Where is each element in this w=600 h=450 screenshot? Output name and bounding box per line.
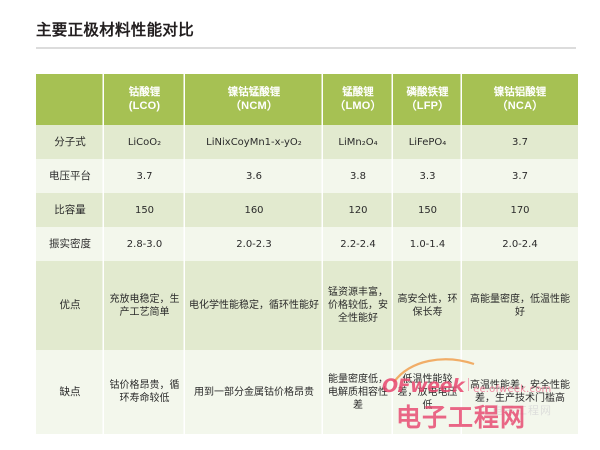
row-label-voltage: 电压平台 [36,159,104,193]
row-label-pros: 优点 [36,261,104,350]
cell-cons-nca: 高温性能差，安全性能差，生产技术门槛高 [462,350,578,434]
cell-voltage-nca: 3.7 [462,159,578,193]
page-title: 主要正极材料性能对比 [36,20,576,40]
table-header-row: 钴酸锂 (LCO) 镍钴锰酸锂 （NCM） 锰酸锂 （LMO） 磷酸铁锂 （LF… [36,74,578,125]
table-row: 优点 充放电稳定，生产工艺简单 电化学性能稳定，循环性能好 锰资源丰富，价格较低… [36,261,578,350]
slide-canvas: 主要正极材料性能对比 钴酸锂 (LCO) 镍钴锰酸锂 （NCM） 锰酸锂 （LM… [0,0,600,450]
table-row: 比容量 150 160 120 150 170 [36,193,578,227]
cell-cons-lco: 钴价格昂贵，循环寿命较低 [104,350,185,434]
cell-density-lfp: 1.0-1.4 [393,227,462,261]
header-cell-ncm: 镍钴锰酸锂 （NCM） [185,74,323,125]
header-code-lfp: （LFP） [393,100,462,114]
header-label-lfp: 磷酸铁锂 [393,86,462,100]
cell-density-lmo: 2.2-2.4 [323,227,393,261]
cell-voltage-lmo: 3.8 [323,159,393,193]
table-header: 钴酸锂 (LCO) 镍钴锰酸锂 （NCM） 锰酸锂 （LMO） 磷酸铁锂 （LF… [36,74,578,125]
cell-pros-ncm: 电化学性能稳定，循环性能好 [185,261,323,350]
header-code-lco: (LCO) [104,100,185,114]
title-divider [36,47,576,49]
cell-pros-lmo: 锰资源丰富，价格较低，安全性能好 [323,261,393,350]
header-label-lmo: 锰酸锂 [323,86,393,100]
header-label-lco: 钴酸锂 [104,86,185,100]
table-row: 电压平台 3.7 3.6 3.8 3.3 3.7 [36,159,578,193]
table-row: 分子式 LiCoO₂ LiNixCoyMn1-x-yO₂ LiMn₂O₄ LiF… [36,125,578,159]
cell-formula-nca: 3.7 [462,125,578,159]
cell-density-nca: 2.0-2.4 [462,227,578,261]
row-label-density: 振实密度 [36,227,104,261]
cell-capacity-lmo: 120 [323,193,393,227]
cell-voltage-lco: 3.7 [104,159,185,193]
row-label-formula: 分子式 [36,125,104,159]
cell-cons-ncm: 用到一部分金属钴价格昂贵 [185,350,323,434]
row-label-cons: 缺点 [36,350,104,434]
row-label-capacity: 比容量 [36,193,104,227]
cell-density-lco: 2.8-3.0 [104,227,185,261]
header-code-ncm: （NCM） [185,100,323,114]
cell-pros-lco: 充放电稳定，生产工艺简单 [104,261,185,350]
cell-capacity-lco: 150 [104,193,185,227]
cell-voltage-lfp: 3.3 [393,159,462,193]
header-code-nca: （NCA） [462,100,578,114]
header-cell-lco: 钴酸锂 (LCO) [104,74,185,125]
header-cell-lmo: 锰酸锂 （LMO） [323,74,393,125]
cell-cons-lfp: 低温性能较差，放电电压低 [393,350,462,434]
header-label-nca: 镍钴铝酸锂 [462,86,578,100]
header-cell-lfp: 磷酸铁锂 （LFP） [393,74,462,125]
cell-formula-lfp: LiFePO₄ [393,125,462,159]
header-cell-nca: 镍钴铝酸锂 （NCA） [462,74,578,125]
cell-capacity-ncm: 160 [185,193,323,227]
cell-capacity-lfp: 150 [393,193,462,227]
material-comparison-table: 钴酸锂 (LCO) 镍钴锰酸锂 （NCM） 锰酸锂 （LMO） 磷酸铁锂 （LF… [36,74,578,434]
header-cell-blank [36,74,104,125]
header-label-ncm: 镍钴锰酸锂 [185,86,323,100]
cell-density-ncm: 2.0-2.3 [185,227,323,261]
cell-pros-lfp: 高安全性，环保长寿 [393,261,462,350]
title-block: 主要正极材料性能对比 [36,20,576,49]
cell-voltage-ncm: 3.6 [185,159,323,193]
cell-formula-lco: LiCoO₂ [104,125,185,159]
cell-pros-nca: 高能量密度，低温性能好 [462,261,578,350]
cell-capacity-nca: 170 [462,193,578,227]
cell-cons-lmo: 能量密度低，电解质相容性差 [323,350,393,434]
cell-formula-lmo: LiMn₂O₄ [323,125,393,159]
table-body: 分子式 LiCoO₂ LiNixCoyMn1-x-yO₂ LiMn₂O₄ LiF… [36,125,578,434]
table-row: 缺点 钴价格昂贵，循环寿命较低 用到一部分金属钴价格昂贵 能量密度低，电解质相容… [36,350,578,434]
cell-formula-ncm: LiNixCoyMn1-x-yO₂ [185,125,323,159]
table-row: 振实密度 2.8-3.0 2.0-2.3 2.2-2.4 1.0-1.4 2.0… [36,227,578,261]
header-code-lmo: （LMO） [323,100,393,114]
